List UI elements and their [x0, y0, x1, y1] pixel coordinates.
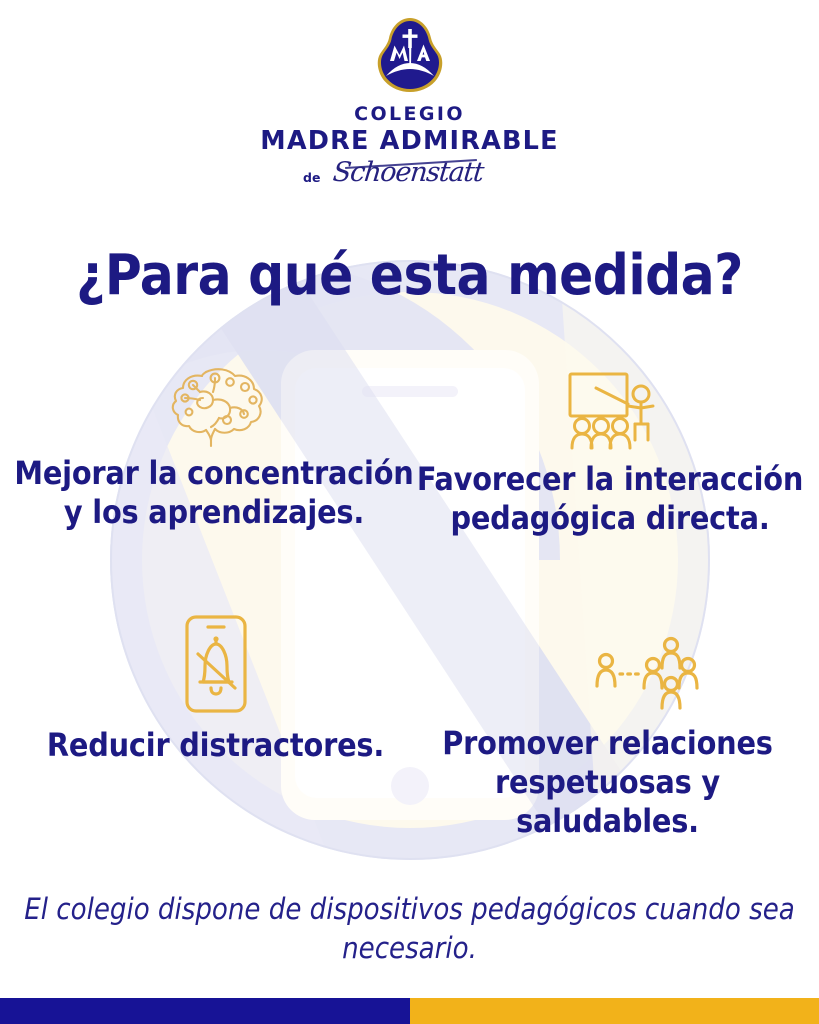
classroom-teaching-icon	[565, 368, 661, 452]
bottom-bar-gold-segment	[410, 998, 819, 1024]
benefit-item-promover-relaciones: Promover relaciones respetuosas y saluda…	[405, 634, 810, 841]
benefit-item-reducir-distractores: Reducir distractores.	[38, 612, 393, 765]
page-title: ¿Para qué esta medida?	[0, 247, 819, 306]
phone-bell-off-icon-holder	[38, 612, 393, 716]
brain-icon-holder	[14, 362, 414, 448]
logo-colegio-text: COLEGIO	[0, 105, 819, 125]
benefit-item-favorecer-interaccion: Favorecer la interacción pedagógica dire…	[410, 368, 810, 538]
benefit-2-text: Favorecer la interacción pedagógica dire…	[410, 460, 810, 538]
people-connection-icon	[593, 634, 701, 712]
logo-madre-admirable-text: MADRE ADMIRABLE	[0, 127, 819, 156]
benefit-3-text: Reducir distractores.	[38, 726, 393, 765]
benefit-1-text: Mejorar la concentración y los aprendiza…	[14, 454, 414, 532]
bottom-bar-navy-segment	[0, 998, 410, 1024]
logo-schoenstatt-row: de Schoenstatt	[0, 157, 819, 191]
benefit-4-text: Promover relaciones respetuosas y saluda…	[405, 724, 810, 841]
classroom-teaching-icon-holder	[410, 368, 810, 452]
bottom-color-bar	[0, 998, 819, 1024]
emblem-icon	[369, 16, 451, 98]
logo-de-text: de	[303, 170, 320, 185]
benefit-item-mejorar-concentracion: Mejorar la concentración y los aprendiza…	[14, 362, 414, 532]
footnote-text: El colegio dispone de dispositivos pedag…	[0, 890, 819, 968]
phone-bell-off-icon	[181, 612, 251, 716]
people-connection-icon-holder	[405, 634, 810, 712]
poster-canvas: COLEGIO MADRE ADMIRABLE de Schoenstatt ¿…	[0, 0, 819, 1024]
school-logo: COLEGIO MADRE ADMIRABLE de Schoenstatt	[0, 16, 819, 191]
brain-icon	[167, 362, 271, 448]
